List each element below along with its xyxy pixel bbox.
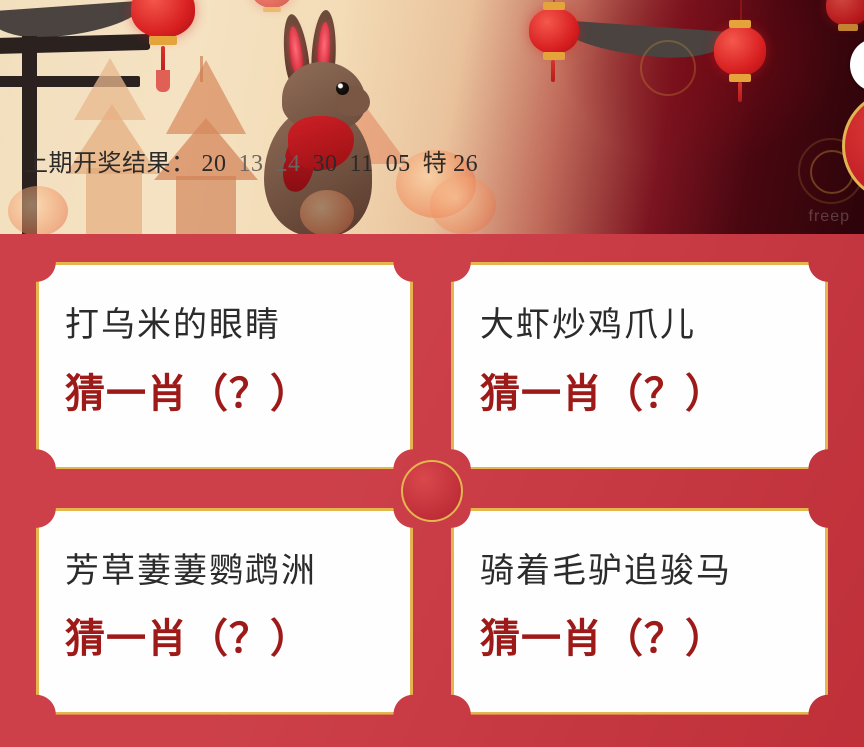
draw-number-1: 20 bbox=[202, 151, 227, 177]
riddle-card[interactable]: 打乌米的眼睛 猜一肖（？） bbox=[36, 262, 413, 470]
blossom-icon bbox=[430, 176, 496, 234]
riddle-text: 打乌米的眼睛 bbox=[65, 305, 384, 348]
banner-image: freep bbox=[0, 0, 864, 234]
riddle-card[interactable]: 芳草萋萋鹦鹉洲 猜一肖（？） bbox=[36, 508, 413, 716]
lantern-icon bbox=[826, 0, 864, 26]
pagoda-base-icon bbox=[176, 176, 236, 234]
lantern-icon bbox=[529, 8, 579, 54]
riddle-text: 芳草萋萋鹦鹉洲 bbox=[65, 551, 384, 594]
lantern-icon bbox=[252, 0, 292, 8]
rabbit-eye-icon bbox=[336, 82, 349, 95]
riddle-card[interactable]: 骑着毛驴追骏马 猜一肖（？） bbox=[451, 508, 828, 716]
draw-number-3: 24 bbox=[276, 151, 301, 177]
riddle-answer: 猜一肖（？） bbox=[65, 615, 384, 663]
riddle-answer: 猜一肖（？） bbox=[65, 370, 384, 418]
blossom-icon bbox=[8, 186, 68, 234]
draw-number-6: 05 bbox=[386, 151, 411, 177]
special-label: 特 bbox=[423, 151, 448, 177]
lantern-icon bbox=[714, 26, 766, 76]
riddle-answer: 猜一肖（？） bbox=[480, 370, 799, 418]
banner-scenery bbox=[0, 0, 864, 234]
riddle-text: 大虾炒鸡爪儿 bbox=[480, 305, 799, 348]
edition-badge: 赤兔版 bbox=[850, 38, 864, 92]
draw-number-5: 11 bbox=[350, 151, 374, 177]
lantern-tassel-icon bbox=[156, 70, 170, 92]
ornament-icon bbox=[640, 40, 696, 96]
pagoda-spire-icon bbox=[200, 56, 203, 82]
riddle-text: 骑着毛驴追骏马 bbox=[480, 551, 799, 594]
special-number: 26 bbox=[453, 151, 478, 177]
previous-draw-result: 上期开奖结果：201324301105特26 bbox=[24, 143, 478, 178]
draw-number-4: 30 bbox=[313, 151, 338, 177]
center-medallion-icon bbox=[401, 460, 463, 522]
lantern-icon bbox=[131, 0, 195, 38]
watermark: freep bbox=[809, 208, 850, 226]
blossom-icon bbox=[300, 190, 354, 234]
riddle-answer: 猜一肖（？） bbox=[480, 615, 799, 663]
lantern-tassel-icon bbox=[551, 60, 555, 82]
lantern-tassel-icon bbox=[738, 82, 742, 102]
draw-number-2: 13 bbox=[239, 151, 264, 177]
title-name-badge: 福兔财神 bbox=[842, 90, 864, 202]
poster-root: freep 上期开奖结果：201324301105特26 赤兔版 第420期 福… bbox=[0, 0, 864, 747]
previous-draw-label: 上期开奖结果： bbox=[24, 151, 196, 177]
riddle-card[interactable]: 大虾炒鸡爪儿 猜一肖（？） bbox=[451, 262, 828, 470]
